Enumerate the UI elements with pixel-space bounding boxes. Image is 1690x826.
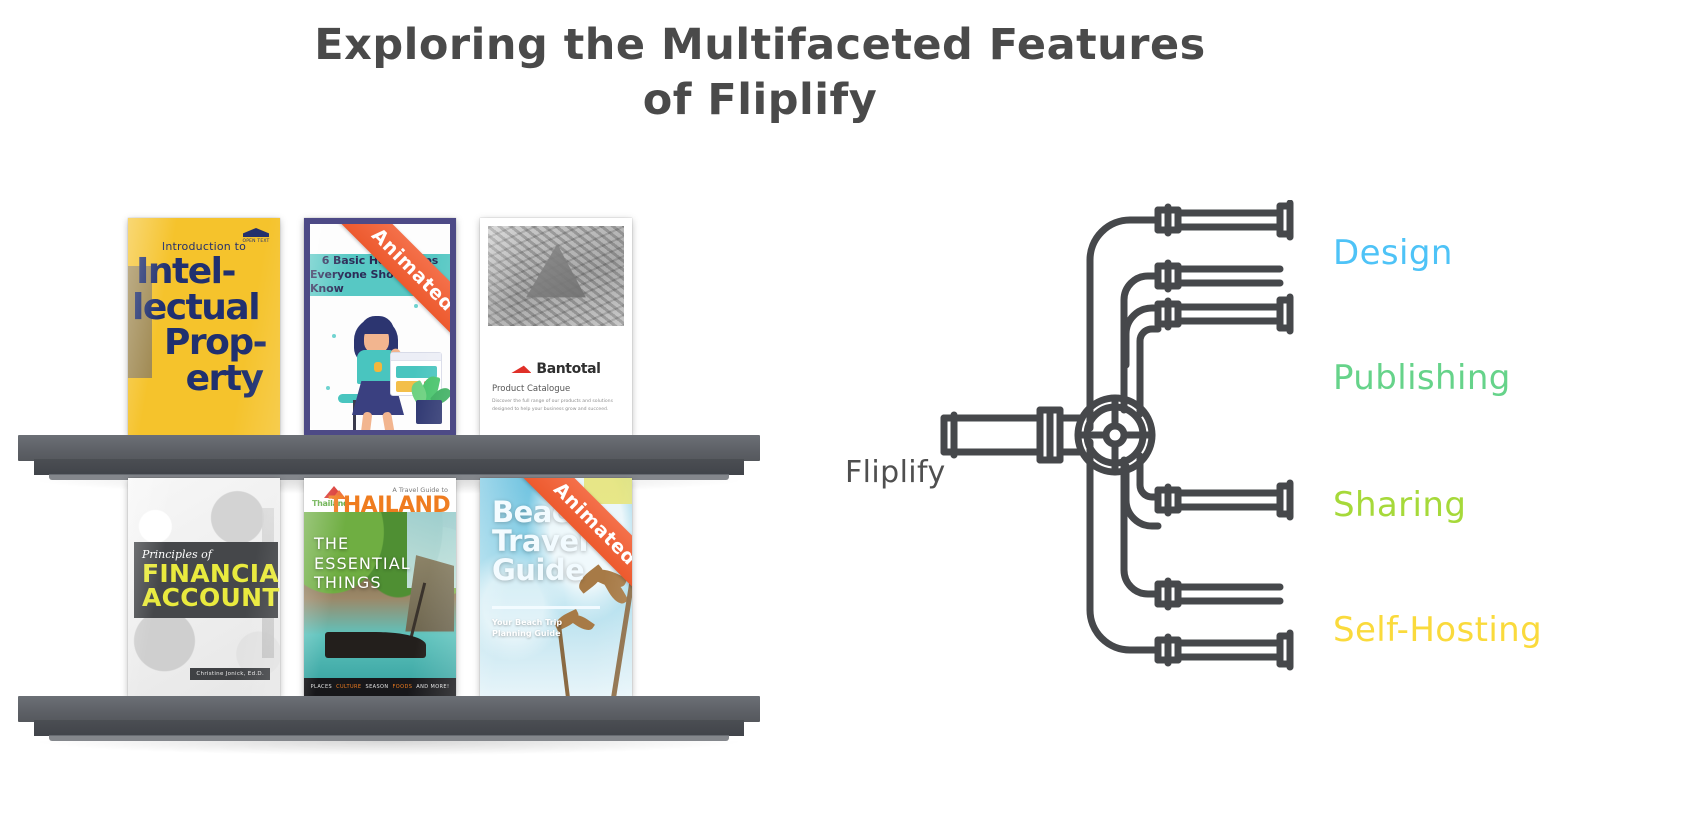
pipe-manifold-diagram — [930, 200, 1350, 680]
book-title-line-1: Intel- — [132, 254, 276, 290]
page-title: Exploring the Multifaceted Features of F… — [0, 18, 1520, 128]
shelf-plank-bottom — [18, 696, 760, 758]
book-title-line-3: Guide — [492, 556, 589, 585]
book-row-bottom: Principles of FINANCIAL ACCOUNTING Chris… — [128, 478, 632, 698]
poster-canvas: Exploring the Multifaceted Features of F… — [0, 0, 1690, 826]
book-subtitle: Your Beach Trip Planning Guide — [492, 618, 562, 640]
feature-label-self-hosting: Self-Hosting — [1333, 610, 1542, 650]
book-blurb: Discover the full range of our products … — [492, 398, 620, 414]
plant-pot-icon — [416, 400, 442, 424]
overlay-line-2: ESSENTIAL — [314, 554, 411, 574]
book-subtitle: Product Catalogue — [492, 384, 570, 394]
footer-tag-0: PLACES — [311, 684, 332, 690]
page-title-line-2: of Fliplify — [0, 73, 1520, 128]
overlay-line-1: THE — [314, 534, 411, 554]
book-cap-icon — [243, 228, 269, 237]
book-subtitle-line-1: Your Beach Trip — [492, 618, 562, 629]
bantotal-mark-icon — [511, 364, 531, 373]
feature-label-sharing: Sharing — [1333, 485, 1466, 525]
book-title: Intel- lectual Prop- erty — [132, 254, 276, 397]
brand-lockup: Bantotal — [480, 358, 632, 377]
book-title-line-4: erty — [132, 361, 276, 397]
book-intellectual-property[interactable]: OPEN TEXT Introduction to Intel- lectual… — [128, 218, 280, 436]
book-title: Beach Travel Guide — [492, 498, 589, 585]
book-row-top: OPEN TEXT Introduction to Intel- lectual… — [128, 218, 632, 436]
bookshelf: OPEN TEXT Introduction to Intel- lectual… — [0, 160, 840, 780]
book-title-line-2: Travel — [492, 527, 589, 556]
book-title-line-2: lectual — [132, 290, 276, 326]
feature-label-publishing: Publishing — [1333, 358, 1511, 398]
book-title-line-1: 6 Basic Health Tips — [322, 254, 439, 268]
page-title-line-1: Exploring the Multifaceted Features — [314, 20, 1206, 70]
footer-tag-2: SEASON — [366, 684, 389, 690]
footer-tag-3: FOODS — [393, 684, 413, 690]
brand-name: Bantotal — [536, 361, 600, 377]
cover-inner: 6 Basic Health Tips Everyone Should Know — [310, 224, 450, 430]
pipe-svg — [930, 200, 1350, 680]
cover-overlay-text: THE ESSENTIAL THINGS — [314, 534, 411, 593]
feature-label-design: Design — [1333, 233, 1453, 273]
cover-footer: PLACESCULTURESEASONFOODSAND MORE! — [304, 678, 456, 698]
book-financial-accounting[interactable]: Principles of FINANCIAL ACCOUNTING Chris… — [128, 478, 280, 698]
footer-tag-4: AND MORE! — [416, 684, 449, 690]
book-title-line-1: Beach — [492, 498, 589, 527]
title-band: Principles of FINANCIAL ACCOUNTING — [134, 542, 278, 618]
book-subtitle-line-2: Planning Guide — [492, 629, 562, 640]
footer-tag-1: CULTURE — [336, 684, 361, 690]
book-thailand-travel[interactable]: Thailand A Travel Guide to THAILAND THE … — [304, 478, 456, 698]
book-basic-health[interactable]: 6 Basic Health Tips Everyone Should Know — [304, 218, 456, 436]
overlay-line-3: THINGS — [314, 573, 411, 593]
cover-header: Thailand A Travel Guide to THAILAND — [304, 484, 456, 514]
book-title-line-3: Prop- — [132, 325, 276, 361]
book-authors: Christine Jonick, Ed.D. — [190, 668, 270, 680]
book-beach-travel-guide[interactable]: Beach Travel Guide Your Beach Trip Plann… — [480, 478, 632, 698]
footer-tags: PLACESCULTURESEASONFOODSAND MORE! — [304, 684, 456, 690]
book-title-line-2: ACCOUNTING — [142, 586, 270, 610]
book-product-catalogue[interactable]: Bantotal Product Catalogue Discover the … — [480, 218, 632, 436]
cover-photo — [488, 226, 624, 326]
cover-illustration — [310, 290, 450, 430]
